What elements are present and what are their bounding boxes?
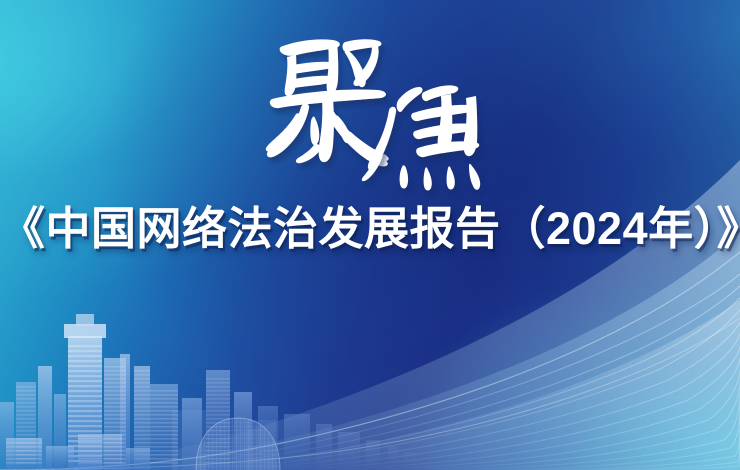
page-title: 《中国网络法治发展报告（2024年）》	[0, 200, 740, 259]
report-title-container: 《中国网络法治发展报告（2024年）》	[0, 200, 740, 259]
report-banner: 《中国网络法治发展报告（2024年）》	[0, 0, 740, 470]
city-skyline-silhouette	[0, 310, 460, 470]
